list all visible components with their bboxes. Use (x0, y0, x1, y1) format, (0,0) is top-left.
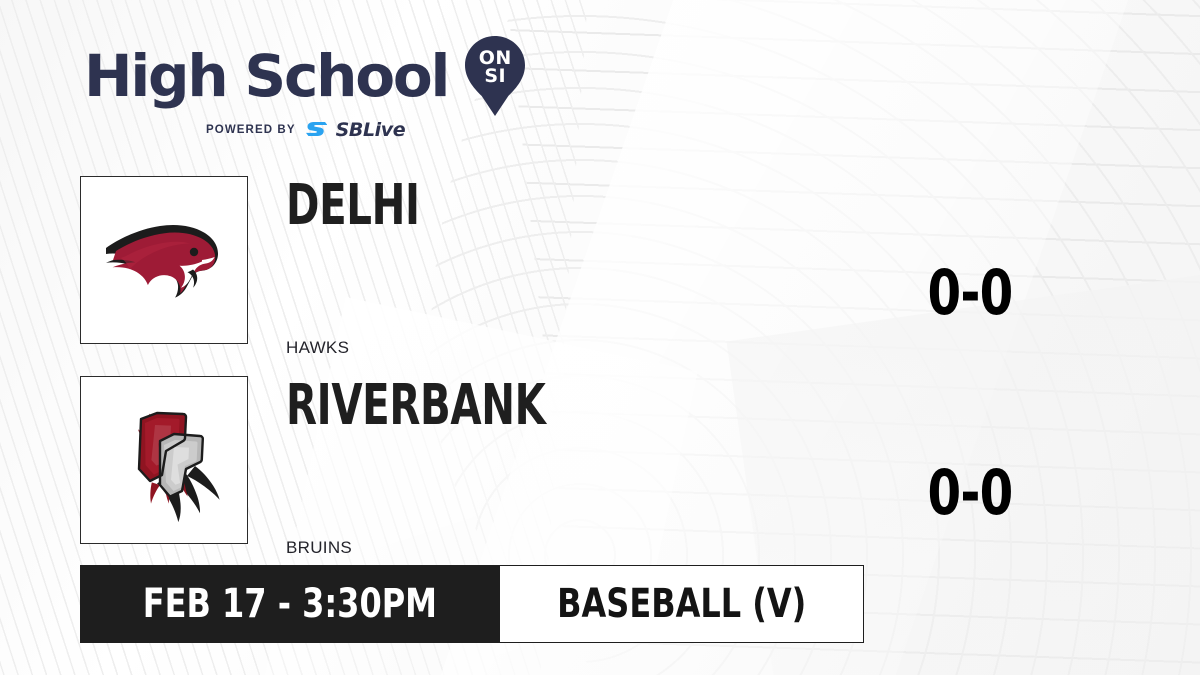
hawk-head-logo-icon (94, 190, 234, 330)
on-si-pin-text: ON SI (462, 49, 528, 85)
powered-by-label: POWERED BY (206, 124, 296, 136)
game-datetime-text: FEB 17 - 3:30PM (143, 584, 437, 624)
sblive-s-mark-icon (305, 120, 327, 140)
team-mascot-1: HAWKS (286, 338, 349, 358)
team-mascot-2: BRUINS (286, 538, 352, 558)
brand-header: High School ON SI POWERED BY SBLive (84, 36, 528, 140)
team-name-2: RIVERBANK (286, 378, 546, 434)
sblive-wordmark: SBLive (336, 121, 406, 140)
pin-line-si: SI (462, 67, 528, 85)
brand-title: High School (84, 47, 448, 105)
bruins-rb-claw-logo-icon (98, 387, 230, 533)
team-record-2: 0-0 (876, 462, 1063, 524)
game-info-banner: FEB 17 - 3:30PM BASEBALL (V) (80, 565, 864, 643)
team-logo-box-1 (80, 176, 248, 344)
matchup-graphic: High School ON SI POWERED BY SBLive (0, 0, 1200, 675)
game-datetime-block: FEB 17 - 3:30PM (80, 565, 500, 643)
game-sport-block: BASEBALL (V) (500, 565, 864, 643)
brand-title-row: High School ON SI (84, 36, 528, 116)
team-record-1: 0-0 (876, 262, 1063, 324)
powered-by-row: POWERED BY SBLive (206, 120, 528, 140)
team-name-1: DELHI (286, 178, 420, 234)
game-sport-text: BASEBALL (V) (557, 584, 806, 624)
team-logo-box-2 (80, 376, 248, 544)
on-si-pin-icon: ON SI (462, 36, 528, 116)
